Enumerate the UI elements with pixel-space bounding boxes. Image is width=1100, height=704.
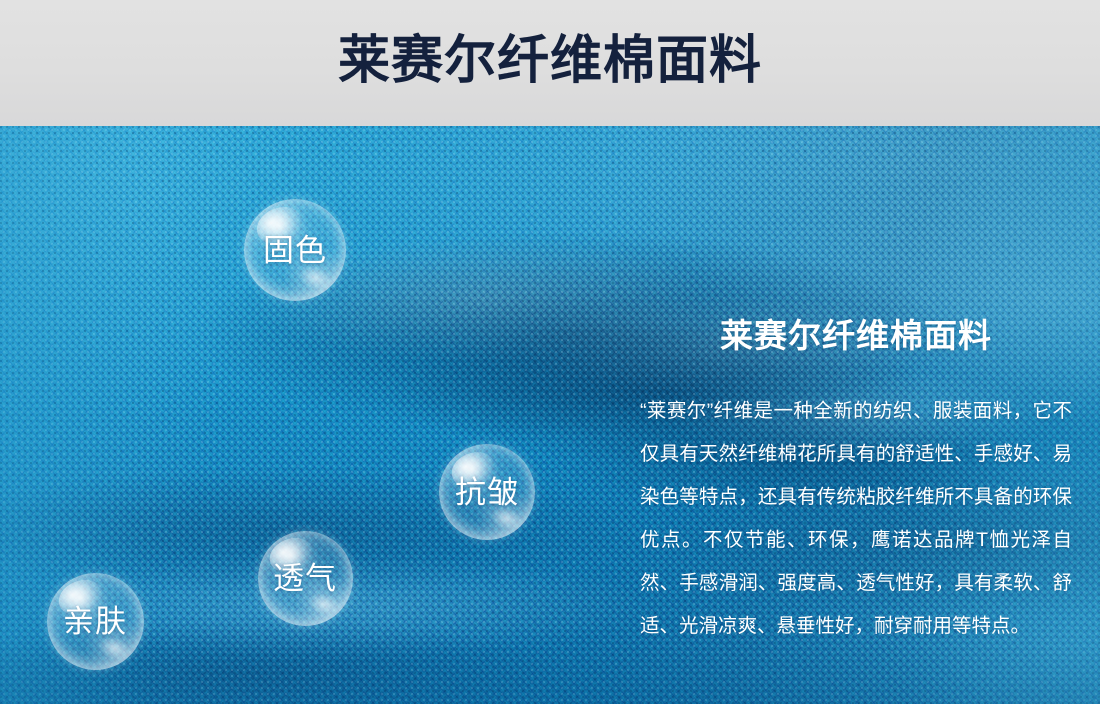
copy-heading: 莱赛尔纤维棉面料 xyxy=(640,316,1072,356)
feature-bubble-kangzhou: 抗皱 xyxy=(439,444,535,540)
feature-bubble-qinfu: 亲肤 xyxy=(47,573,144,670)
copy-panel: 莱赛尔纤维棉面料 “莱赛尔”纤维是一种全新的纺织、服装面料，它不仅具有天然纤维棉… xyxy=(640,316,1072,648)
feature-bubble-label: 透气 xyxy=(273,563,337,594)
product-banner: 莱赛尔纤维棉面料 固色 抗皱 透气 亲肤 莱赛尔纤维棉面料 “莱赛尔”纤维是一种… xyxy=(0,0,1100,704)
page-title: 莱赛尔纤维棉面料 xyxy=(0,0,1100,126)
feature-bubble-gusе: 固色 xyxy=(244,199,346,301)
copy-paragraph: “莱赛尔”纤维是一种全新的纺织、服装面料，它不仅具有天然纤维棉花所具有的舒适性、… xyxy=(640,390,1072,648)
fabric-photo: 固色 抗皱 透气 亲肤 莱赛尔纤维棉面料 “莱赛尔”纤维是一种全新的纺织、服装面… xyxy=(0,126,1100,704)
feature-bubble-label: 固色 xyxy=(263,235,327,266)
feature-bubble-touqi: 透气 xyxy=(258,531,353,626)
feature-bubble-label: 抗皱 xyxy=(455,477,519,508)
header-band: 莱赛尔纤维棉面料 xyxy=(0,0,1100,126)
feature-bubble-label: 亲肤 xyxy=(63,606,127,637)
